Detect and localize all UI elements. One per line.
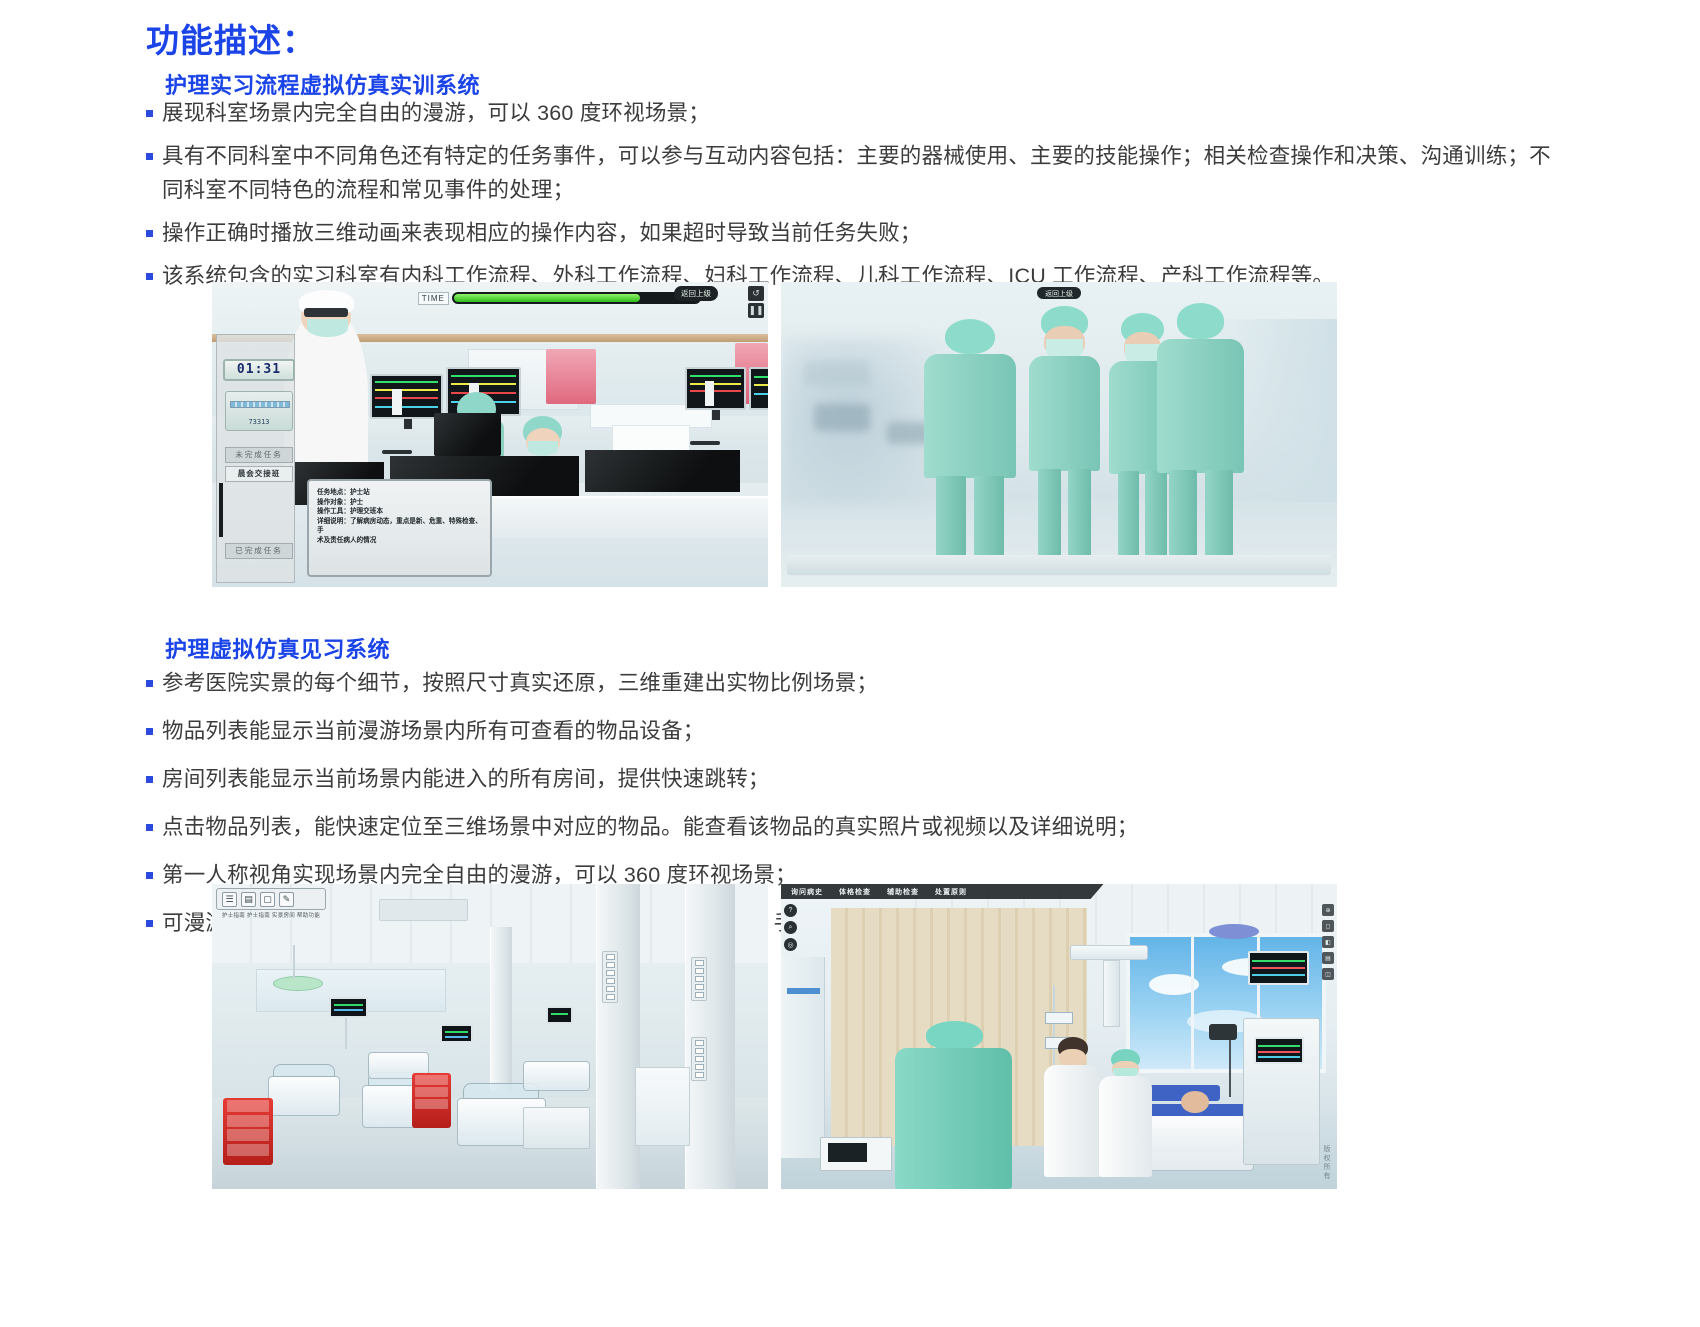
nav-item-physical-exam[interactable]: 体格检查 — [839, 887, 871, 897]
avatar-leg — [936, 476, 966, 557]
avatar-body — [924, 354, 1016, 478]
task-description-line2: 术及责任病人的情况 — [317, 536, 482, 546]
help-icon[interactable]: ? — [784, 904, 797, 917]
avatar-surgeon — [920, 319, 1020, 557]
list-item: 操作正确时播放三维动画来表现相应的操作内容，如果超时导致当前任务失败； — [146, 216, 1566, 250]
scene-column — [490, 927, 512, 1092]
screenshot-nicu-room: ☰ ▤ ▢ ✎ 护士指南 护士指南 实景房间 帮助功能 — [212, 884, 768, 1189]
infusion-pump — [1045, 1012, 1073, 1024]
list-item: 点击物品列表，能快速定位至三维场景中对应的物品。能查看该物品的真实照片或视频以及… — [146, 810, 1566, 844]
vitals-monitor — [685, 367, 746, 410]
ceiling-light — [1209, 924, 1259, 939]
time-label: TIME — [418, 292, 449, 305]
bullet-square-icon — [146, 110, 153, 117]
incubator — [523, 1061, 590, 1092]
screenshot-ward-round: 询问病史 体格检查 辅助检查 处置原则 ? ⌕ ◎ ⊕ ◻ ◧ ▤ ◫ 版权所有 — [781, 884, 1337, 1189]
scene-ceiling-vent — [379, 899, 468, 920]
list-item: 展现科室场景内完全自由的漫游，可以 360 度环视场景； — [146, 96, 1566, 130]
task-location: 任务地点：护士站 — [317, 488, 482, 498]
scene-column — [596, 884, 640, 1189]
avatar-body — [1157, 339, 1244, 473]
pending-tasks-header[interactable]: 未完成任务 — [225, 447, 293, 463]
avatar-mask — [307, 319, 349, 337]
device-screen — [828, 1143, 867, 1161]
avatar-body — [895, 1048, 1012, 1189]
incubator-hood — [273, 1064, 335, 1077]
scene-blur-object — [814, 404, 870, 431]
bedside-cabinet — [523, 1107, 590, 1150]
list-icon[interactable]: ▤ — [1322, 952, 1334, 964]
bullet-square-icon — [146, 776, 153, 783]
gauge-bar — [230, 401, 290, 408]
completed-tasks-header[interactable]: 已完成任务 — [225, 543, 293, 559]
vitals-monitor — [440, 1024, 473, 1042]
pen-icon[interactable]: ✎ — [279, 892, 294, 907]
avatar-leg — [1118, 471, 1140, 556]
hud-top-bar: 返回上级 — [781, 287, 1337, 299]
task-target: 操作对象：护士 — [317, 498, 482, 508]
list-icon[interactable]: ☰ — [222, 892, 237, 907]
search-icon[interactable]: ⌕ — [784, 921, 797, 934]
book-icon[interactable]: ▤ — [241, 892, 256, 907]
wall-monitor — [1248, 951, 1309, 985]
section-title-virtual-observation: 护理虚拟仿真见习系统 — [165, 632, 390, 664]
scene-blur-object — [803, 361, 870, 385]
incubator — [268, 1076, 340, 1116]
pause-icon[interactable]: ❚❚ — [748, 303, 764, 318]
vitals-monitor — [749, 367, 768, 410]
avatar-body — [1099, 1076, 1152, 1177]
avatar-leg — [974, 476, 1004, 557]
pendant-column — [1103, 960, 1120, 1027]
list-item: 参考医院实景的每个细节，按照尺寸真实还原，三维重建出实物比例场景； — [146, 666, 1566, 700]
return-button[interactable]: 返回上级 — [1037, 287, 1081, 299]
avatar-glasses — [304, 308, 348, 317]
avatar-leg — [1169, 470, 1197, 556]
bullet-square-icon — [146, 680, 153, 687]
page-root: 功能描述： 护理实习流程虚拟仿真实训系统 展现科室场景内完全自由的漫游，可以 3… — [0, 0, 1700, 1327]
bullet-square-icon — [146, 153, 153, 160]
power-outlet-panel — [602, 951, 618, 1003]
power-outlet-panel — [691, 1037, 707, 1081]
bullet-square-icon — [146, 230, 153, 237]
vitals-monitor — [1254, 1037, 1304, 1064]
task-detail-card: 任务地点：护士站 操作对象：护士 操作工具：护理交班本 详细说明：了解病房动态，… — [307, 479, 492, 577]
ceiling-pendant — [1070, 945, 1148, 960]
crash-cart — [223, 1098, 273, 1165]
crash-cart — [412, 1073, 451, 1128]
avatar-nurse-foreground — [892, 1021, 1014, 1189]
hud-left-tools: ? ⌕ ◎ — [784, 904, 797, 955]
nav-item-history[interactable]: 询问病史 — [791, 887, 823, 897]
task-tool: 操作工具：护理交班本 — [317, 507, 482, 517]
section-bullets-nursing-internship: 展现科室场景内完全自由的漫游，可以 360 度环视场景； 具有不同科室中不同角色… — [146, 96, 1566, 302]
avatar-patient-head — [1181, 1091, 1209, 1112]
list-item: 物品列表能显示当前漫游场景内所有可查看的物品设备； — [146, 714, 1566, 748]
bullet-square-icon — [146, 273, 153, 280]
avatar-surgeon — [1026, 306, 1104, 556]
progress-track — [452, 292, 701, 304]
power-outlet-panel — [691, 957, 707, 1001]
camera-arm — [1229, 1030, 1231, 1097]
avatar-leg — [1038, 469, 1061, 557]
avatar-body — [1029, 356, 1101, 471]
list-item: 具有不同科室中不同角色还有特定的任务事件，可以参与互动内容包括：主要的器械使用、… — [146, 139, 1566, 207]
nav-item-treatment-principles[interactable]: 处置原则 — [935, 887, 967, 897]
avatar-cap — [1177, 303, 1224, 338]
return-button[interactable]: 返回上级 — [674, 286, 718, 301]
bullet-square-icon — [146, 872, 153, 879]
light-arm — [293, 945, 295, 979]
hud-right-tools: ⊕ ◻ ◧ ▤ ◫ — [1322, 904, 1334, 984]
avatar-mask — [528, 441, 559, 456]
hud-top-nav: 询问病史 体格检查 辅助检查 处置原则 — [781, 884, 1103, 899]
settings-icon[interactable]: ⊕ — [1322, 904, 1334, 916]
gauge-value: 73313 — [226, 418, 292, 426]
nav-item-auxiliary-exam[interactable]: 辅助检查 — [887, 887, 919, 897]
list-item: 房间列表能显示当前场景内能进入的所有房间，提供快速跳转； — [146, 762, 1566, 796]
avatar-surgeon — [1154, 303, 1249, 556]
avatar-cap — [926, 1021, 982, 1050]
hud-toolbar-caption: 护士指南 护士指南 实景房间 帮助功能 — [216, 911, 326, 919]
watermark: 版权所有 — [1321, 1145, 1331, 1181]
scene-red-cart — [546, 349, 596, 404]
vitals-monitor — [546, 1006, 574, 1024]
bullet-square-icon — [146, 728, 153, 735]
avatar-doctor — [1042, 1037, 1103, 1177]
page-title: 功能描述： — [146, 14, 316, 62]
hud-task-panel: 01:31 73313 未完成任务 晨会交接班 已完成任务 — [216, 334, 295, 583]
avatar-leg — [1068, 469, 1091, 557]
mission-gauge: 73313 — [225, 391, 293, 431]
screenshot-icu-station: 01:31 73313 未完成任务 晨会交接班 已完成任务 TIME 返回上级 … — [212, 282, 768, 587]
reset-icon[interactable]: ↺ — [748, 286, 764, 301]
grid-icon[interactable]: ◫ — [1322, 968, 1334, 980]
avatar-leg — [1205, 470, 1233, 556]
screenshot-surgeon-team: 返回上级 — [781, 282, 1337, 587]
vitals-monitor — [329, 997, 368, 1018]
mission-timer: 01:31 — [223, 359, 295, 381]
vitals-monitor — [370, 374, 442, 420]
bullet-square-icon — [146, 920, 153, 927]
panel-icon[interactable]: ◻ — [1322, 920, 1334, 932]
cabinet-trim — [787, 988, 820, 994]
avatar-body — [1044, 1065, 1103, 1177]
task-item-shift-handover[interactable]: 晨会交接班 — [225, 466, 293, 482]
surgical-light — [273, 976, 323, 991]
scene-floor-rail — [787, 555, 1332, 575]
bedside-cabinet — [635, 1067, 691, 1146]
layers-icon[interactable]: ▢ — [260, 892, 275, 907]
split-icon[interactable]: ◧ — [1322, 936, 1334, 948]
avatar-cap — [945, 319, 995, 355]
target-icon[interactable]: ◎ — [784, 938, 797, 951]
task-description-line1: 详细说明：了解病房动态，重点是新、危重、特殊检查、手 — [317, 517, 482, 536]
progress-fill — [454, 294, 641, 302]
hud-toolbar: ☰ ▤ ▢ ✎ — [216, 888, 326, 910]
hud-corner-buttons: ↺ ❚❚ — [748, 286, 764, 320]
avatar-nurse — [1098, 1049, 1154, 1177]
camera-head — [1209, 1024, 1237, 1039]
hud-progress-bar: TIME — [418, 290, 702, 306]
bullet-square-icon — [146, 824, 153, 831]
